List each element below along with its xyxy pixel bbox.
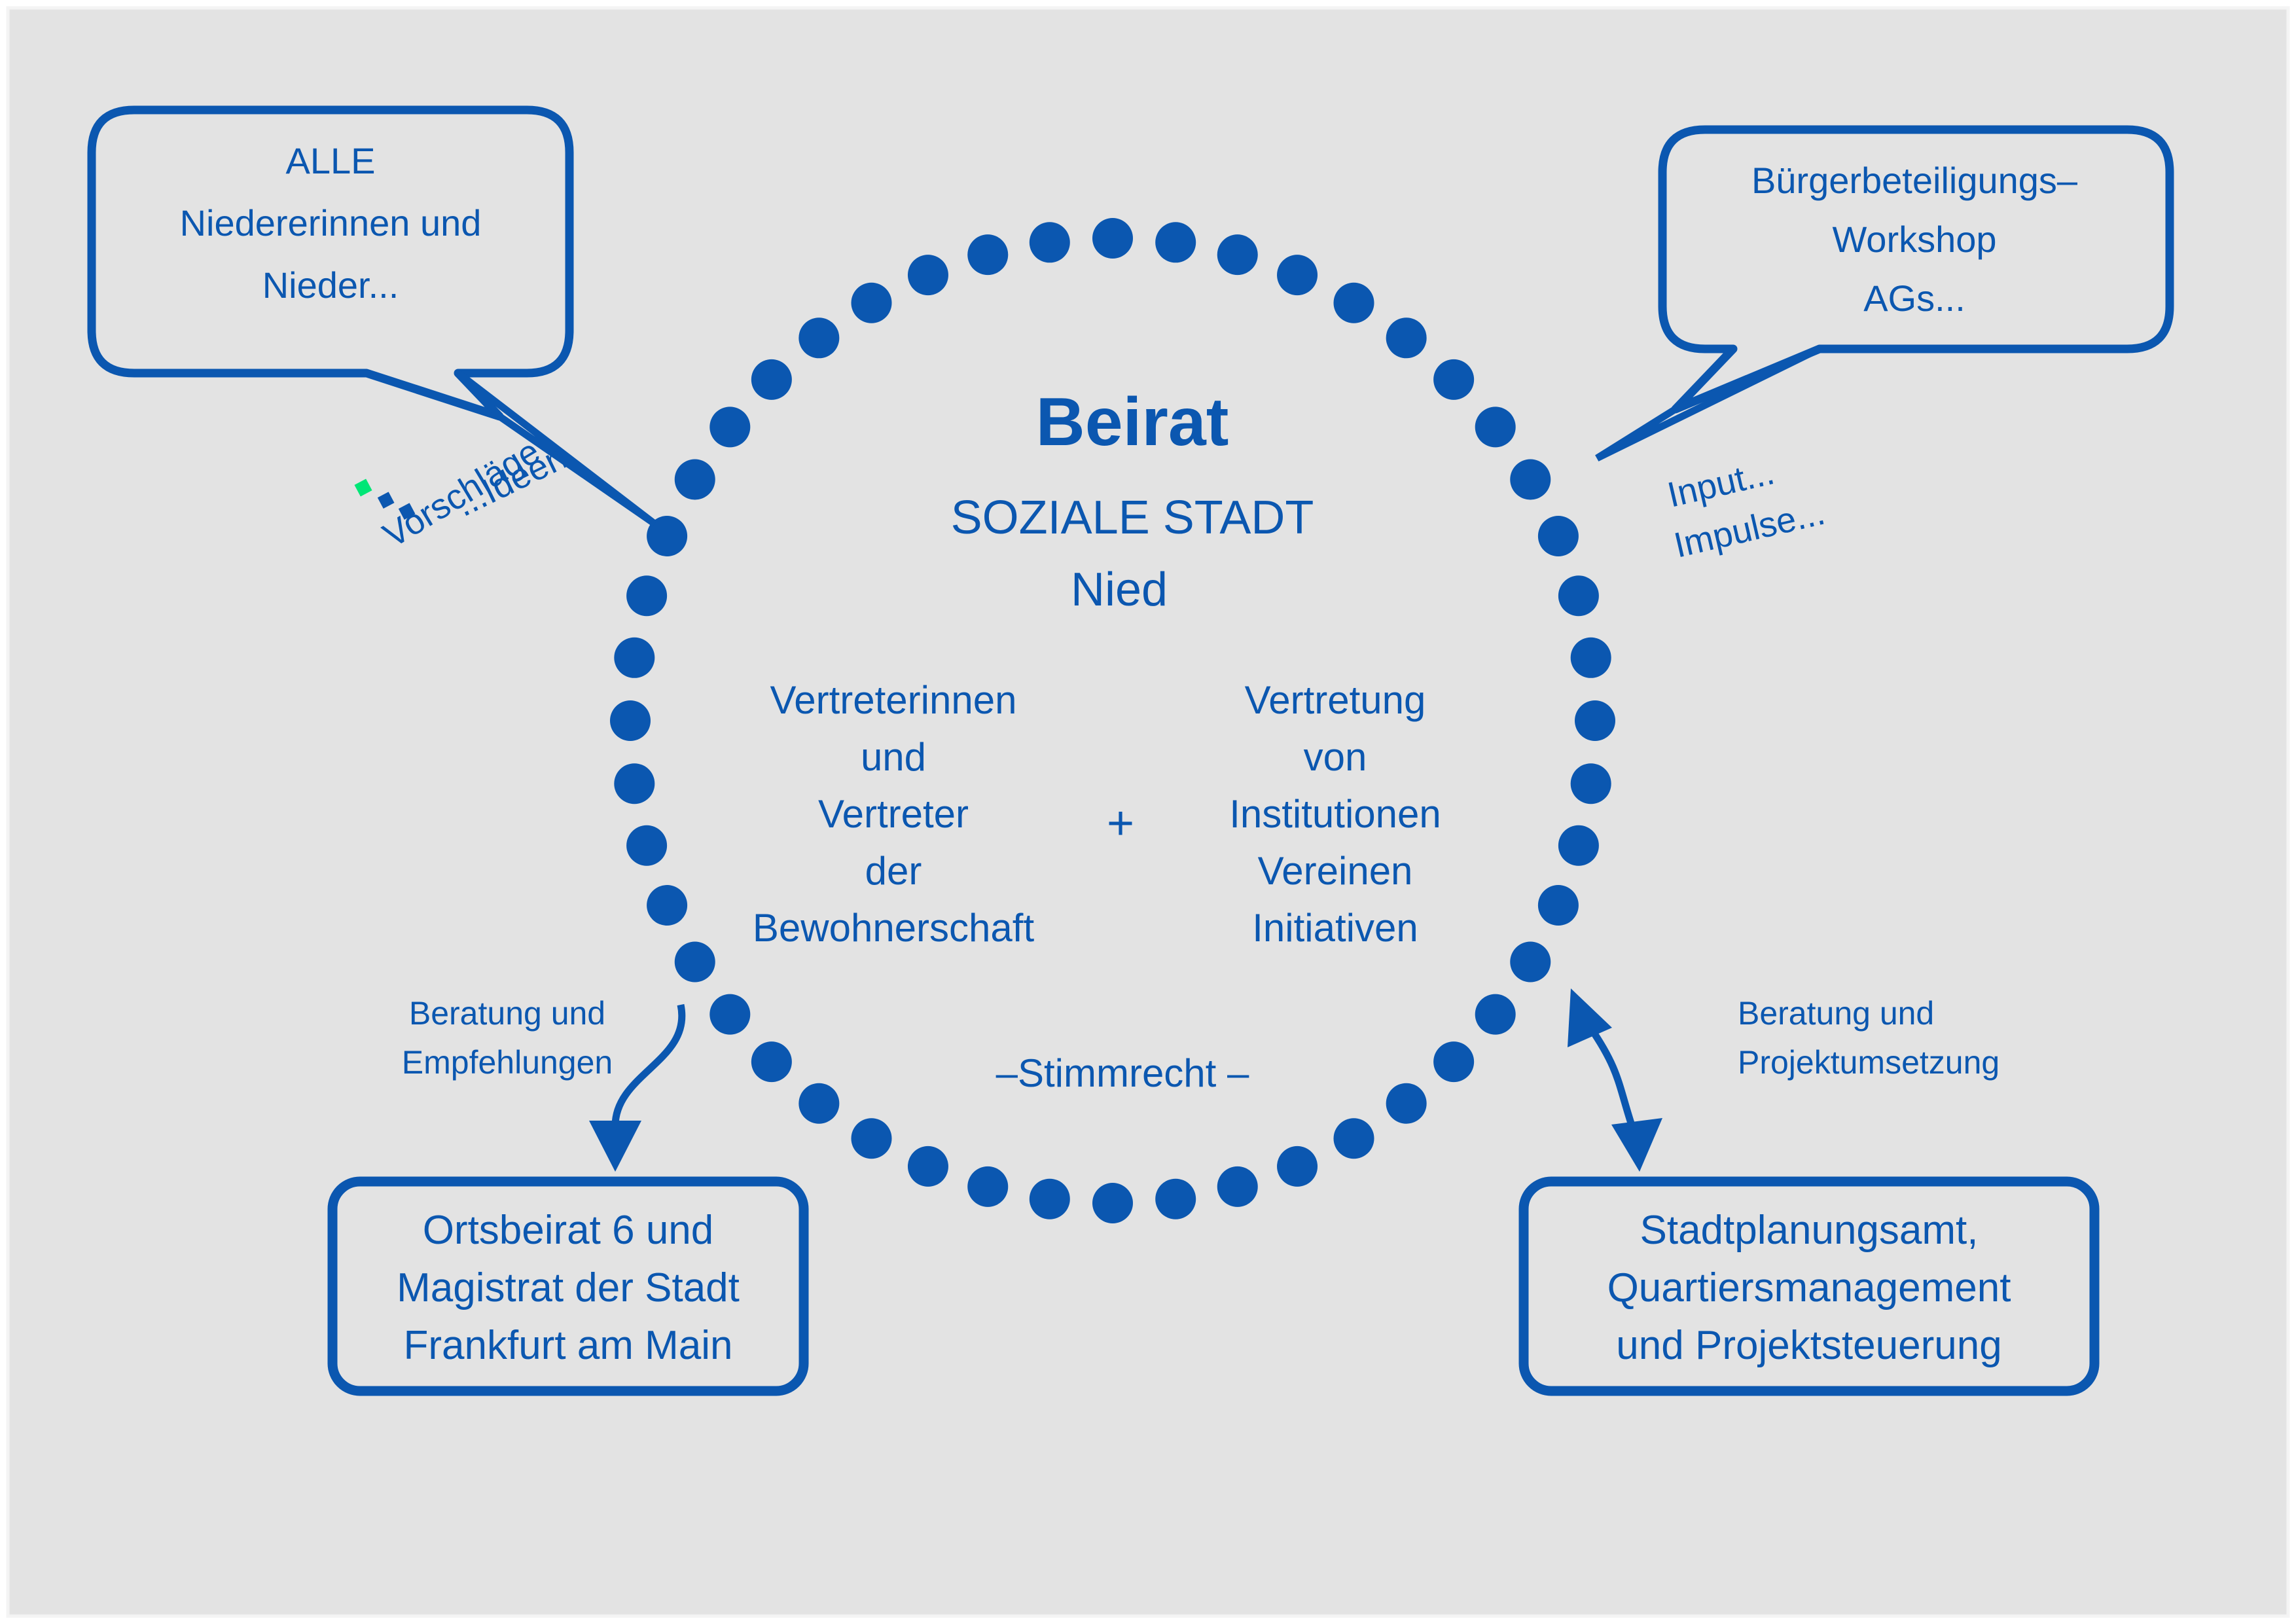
circle-dot — [709, 994, 750, 1035]
circle-dot — [626, 825, 667, 866]
center-title-sub1: SOZIALE STADT — [951, 492, 1314, 544]
circle-dot — [1558, 825, 1599, 866]
circle-dot — [1092, 1183, 1133, 1223]
circle-dot — [1277, 255, 1318, 295]
left-column-line-4: der — [865, 849, 922, 893]
bubble-tl-line-3: Nieder... — [262, 264, 399, 306]
center-title-sub2: Nied — [1071, 564, 1168, 616]
left-column-line-2: und — [861, 735, 926, 779]
annot-bl-line-1: Beratung und — [409, 995, 605, 1032]
circle-dot — [908, 1146, 948, 1187]
circle-dot — [610, 700, 651, 741]
circle-dot — [798, 1083, 839, 1124]
annot-bl-line-2: Empfehlungen — [402, 1044, 613, 1081]
circle-dot — [908, 255, 948, 295]
circle-dot — [1386, 317, 1427, 358]
box-bl-line-2: Magistrat der Stadt — [397, 1265, 740, 1310]
circle-dot — [1217, 1166, 1258, 1207]
circle-dot — [1538, 885, 1579, 926]
plus-operator: + — [1107, 797, 1134, 850]
annot-br-line-1: Beratung und — [1738, 995, 1934, 1032]
circle-dot — [1475, 994, 1516, 1035]
bubble-tr-line-3: AGs... — [1863, 278, 1965, 319]
circle-dot — [647, 885, 687, 926]
diagram-stage: Beirat SOZIALE STADT Nied Vertreterinnen… — [0, 0, 2296, 1624]
circle-dot — [1092, 218, 1133, 259]
circle-dot — [709, 406, 750, 447]
circle-dot — [1510, 460, 1551, 500]
circle-dot — [751, 1041, 792, 1082]
circle-dot — [1433, 1041, 1474, 1082]
bubble-tr-line-2: Workshop — [1832, 219, 1996, 260]
box-br-line-3: und Projektsteuerung — [1616, 1323, 2001, 1368]
circle-dot — [1155, 1179, 1196, 1219]
bubble-tl-line-2: Niedererinnen und — [180, 202, 482, 244]
left-column-line-5: Bewohnerschaft — [753, 906, 1035, 950]
circle-dot — [1030, 222, 1070, 262]
right-column-line-4: Vereinen — [1258, 849, 1413, 893]
left-column-line-1: Vertreterinnen — [770, 678, 1017, 722]
right-column-line-5: Initiativen — [1252, 906, 1418, 950]
circle-dot — [1386, 1083, 1427, 1124]
circle-dot — [1334, 283, 1374, 323]
circle-dot — [675, 460, 715, 500]
bubble-tl-line-1: ALLE — [286, 140, 376, 181]
circle-dot — [1475, 406, 1516, 447]
right-column-line-3: Institutionen — [1229, 792, 1441, 836]
circle-dot — [1217, 234, 1258, 275]
circle-dot — [1277, 1146, 1318, 1187]
right-column-line-1: Vertretung — [1245, 678, 1426, 722]
stimmrecht-note: –Stimmrecht – — [996, 1051, 1249, 1095]
circle-dot — [967, 1166, 1008, 1207]
box-br-line-1: Stadtplanungsamt, — [1640, 1208, 1978, 1253]
circle-dot — [1155, 222, 1196, 262]
circle-dot — [1538, 516, 1579, 556]
center-title-main: Beirat — [1036, 384, 1229, 460]
circle-dot — [1558, 575, 1599, 616]
circle-dot — [1571, 763, 1611, 804]
right-column-line-2: von — [1304, 735, 1367, 779]
circle-dot — [675, 942, 715, 983]
circle-dot — [852, 283, 892, 323]
box-bl-line-1: Ortsbeirat 6 und — [423, 1208, 714, 1253]
circle-dot — [751, 359, 792, 400]
left-column-line-3: Vertreter — [818, 792, 969, 836]
circle-dot — [626, 575, 667, 616]
circle-dot — [614, 638, 655, 678]
bubble-tr-line-1: Bürgerbeteiligungs– — [1751, 160, 2078, 201]
circle-dot — [852, 1118, 892, 1159]
circle-dot — [614, 763, 655, 804]
circle-dot — [967, 234, 1008, 275]
diagram-canvas: Beirat SOZIALE STADT Nied Vertreterinnen… — [0, 0, 2296, 1624]
circle-dot — [1334, 1118, 1374, 1159]
circle-dot — [798, 317, 839, 358]
circle-dot — [1510, 942, 1551, 983]
box-bl-line-3: Frankfurt am Main — [403, 1323, 732, 1368]
circle-dot — [1030, 1179, 1070, 1219]
box-br-line-2: Quartiersmanagement — [1607, 1265, 2011, 1310]
circle-dot — [1575, 700, 1615, 741]
circle-dot — [1433, 359, 1474, 400]
circle-dot — [1571, 638, 1611, 678]
annot-br-line-2: Projektumsetzung — [1738, 1044, 2000, 1081]
